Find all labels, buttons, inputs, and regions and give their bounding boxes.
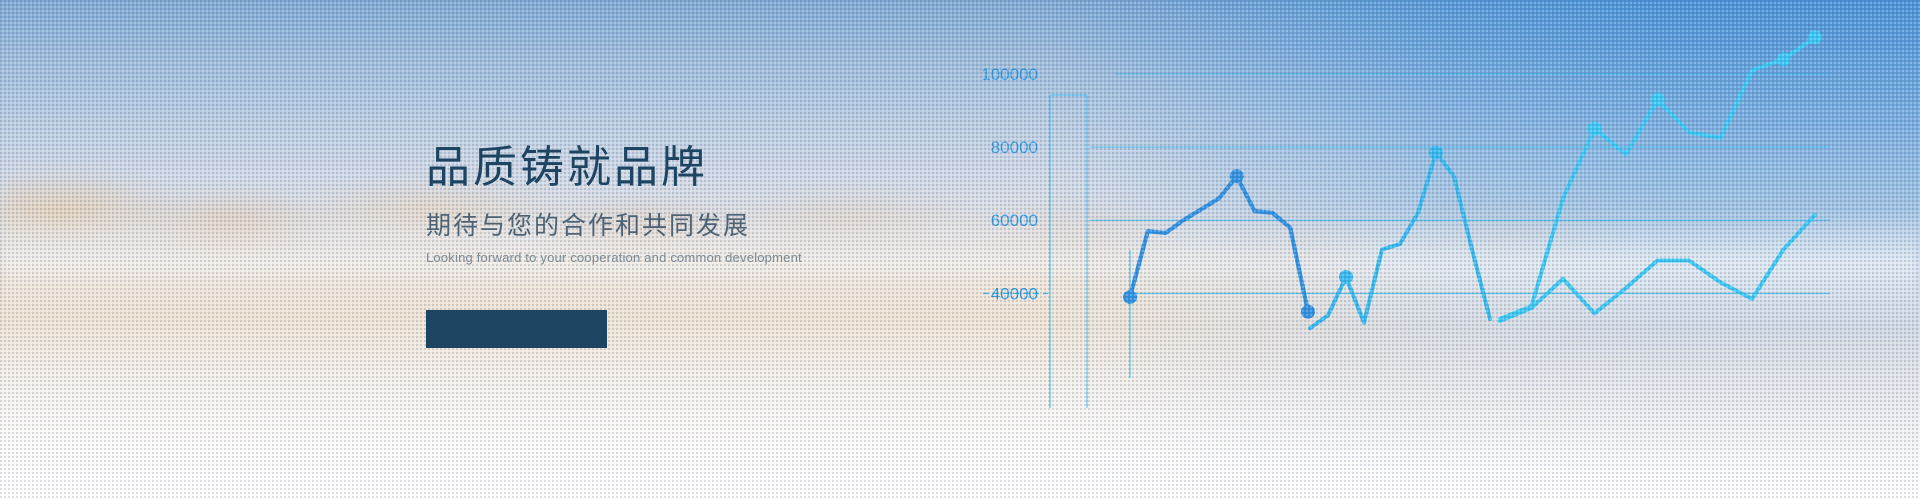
halftone-dot-overlay-light bbox=[0, 0, 1920, 500]
banner-copy: 品质铸就品牌 期待与您的合作和共同发展 Looking forward to y… bbox=[426, 146, 846, 264]
hero-banner: 100000800006000040000 品质铸就品牌 期待与您的合作和共同发… bbox=[0, 0, 1920, 500]
banner-headline: 品质铸就品牌 bbox=[426, 146, 846, 190]
banner-subheadline: 期待与您的合作和共同发展 bbox=[426, 214, 846, 239]
banner-cta-button[interactable] bbox=[426, 310, 607, 348]
banner-english-subheadline: Looking forward to your cooperation and … bbox=[426, 251, 846, 264]
